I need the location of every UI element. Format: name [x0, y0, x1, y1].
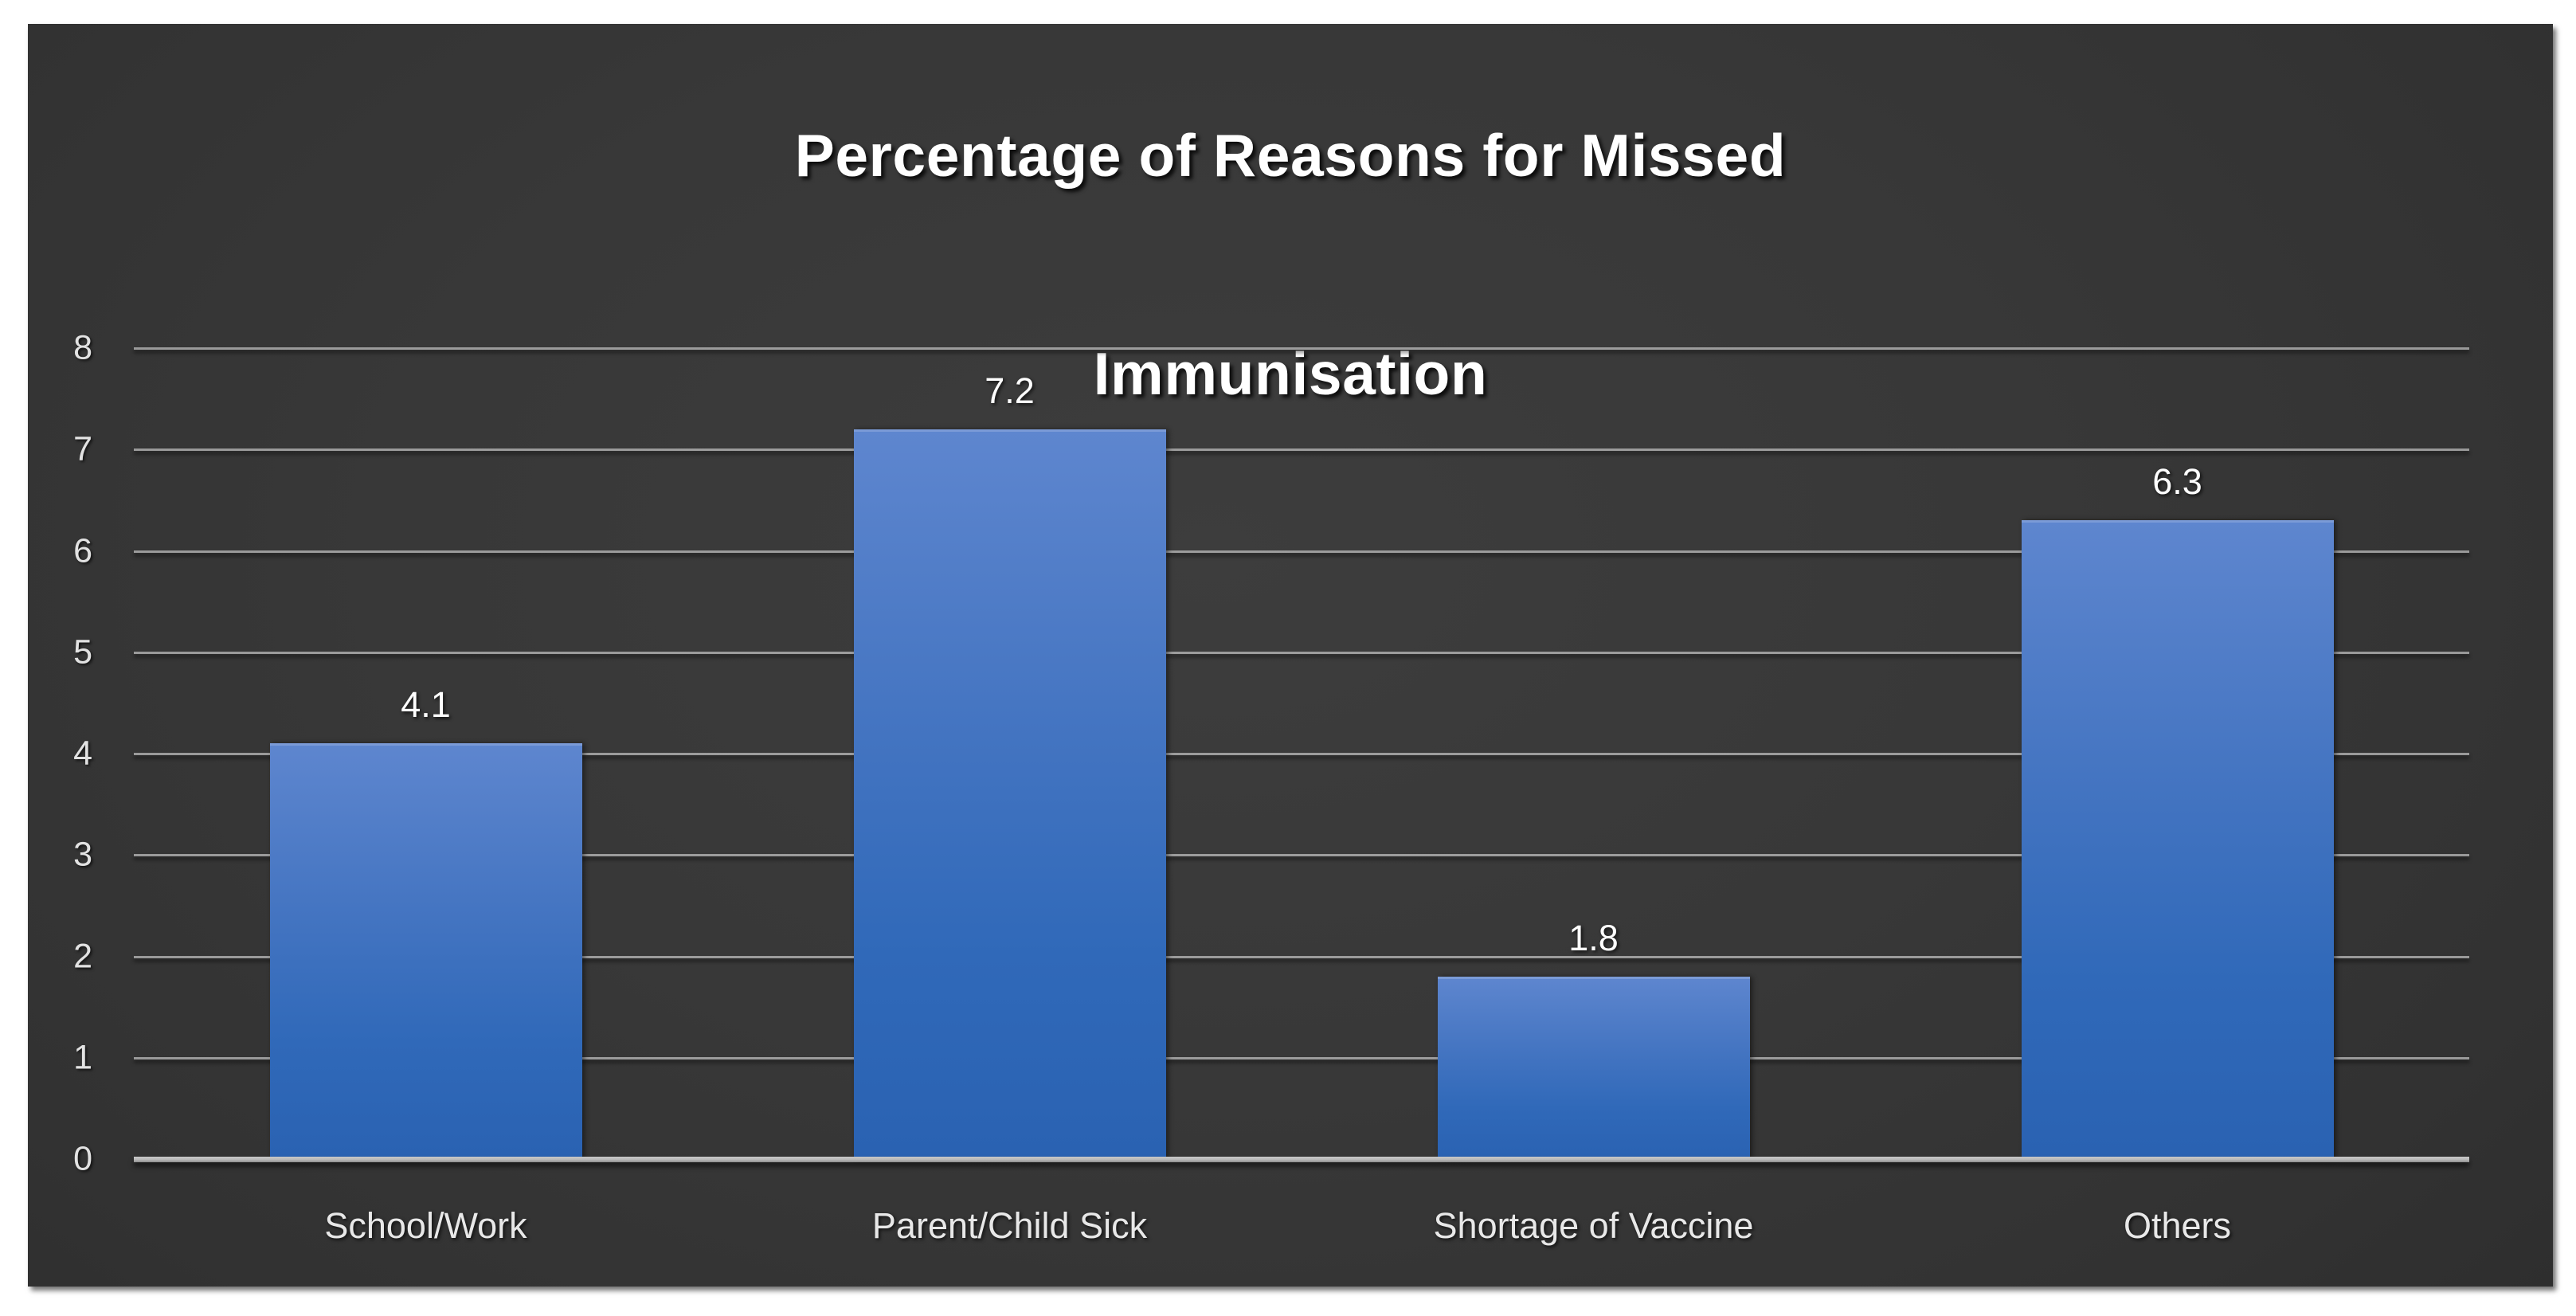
y-tick-label-7: 7	[73, 430, 92, 469]
bar[interactable]	[1438, 977, 1750, 1159]
bar-value-label: 1.8	[1568, 918, 1619, 959]
chart-panel: Percentage of Reasons for Missed Immunis…	[28, 24, 2553, 1287]
y-tick-label-3: 3	[73, 836, 92, 875]
category-label: School/Work	[324, 1205, 527, 1247]
x-axis-line	[134, 1157, 2469, 1162]
category-label: Shortage of Vaccine	[1434, 1205, 1754, 1247]
y-tick-label-8: 8	[73, 329, 92, 368]
category-label: Others	[2124, 1205, 2231, 1247]
bar-value-label: 6.3	[2152, 461, 2202, 503]
bar[interactable]	[270, 743, 582, 1159]
bar[interactable]	[2022, 520, 2334, 1159]
plot-area: 876543210 4.17.21.86.3 School/WorkParent…	[134, 24, 2473, 1287]
y-tick-label-2: 2	[73, 937, 92, 976]
y-tick-label-6: 6	[73, 531, 92, 570]
y-tick-label-4: 4	[73, 734, 92, 774]
y-tick-label-0: 0	[73, 1140, 92, 1179]
bar-value-label: 7.2	[985, 370, 1035, 412]
bar[interactable]	[854, 429, 1166, 1159]
gridline-8	[134, 347, 2469, 350]
category-label: Parent/Child Sick	[872, 1205, 1147, 1247]
gridline-7	[134, 448, 2469, 451]
y-tick-label-1: 1	[73, 1038, 92, 1077]
bar-value-label: 4.1	[401, 684, 451, 726]
y-tick-label-5: 5	[73, 633, 92, 672]
